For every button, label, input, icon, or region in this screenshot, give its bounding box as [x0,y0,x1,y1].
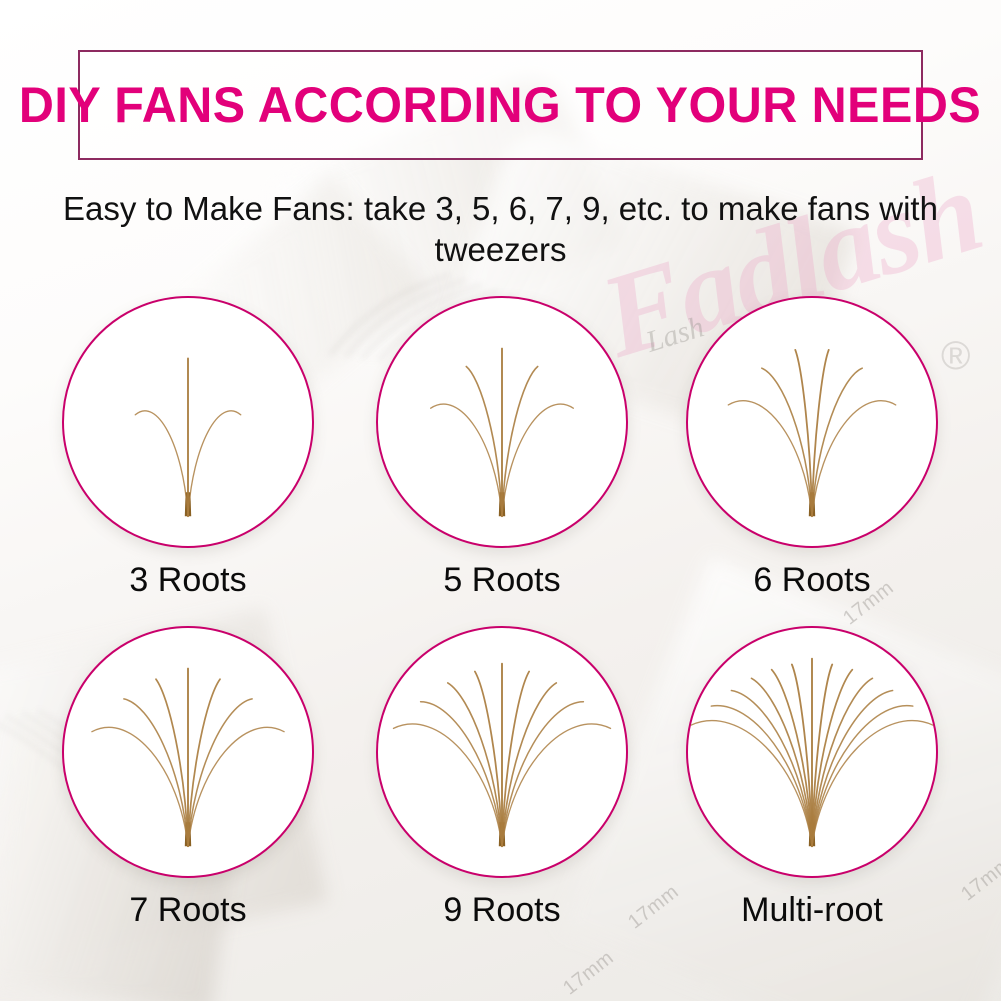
lash-strand [502,683,556,846]
lash-strand [448,683,502,846]
lash-strand [502,724,611,846]
fan-circle [686,626,938,878]
lash-strand [188,727,284,846]
fan-circle [376,296,628,548]
lash-fan-icon [378,298,626,546]
lash-strand [728,401,812,517]
lash-strand [394,724,503,846]
lash-strand [124,699,188,846]
fan-label: 9 Roots [352,892,652,929]
lash-strand [502,367,538,517]
fan-item-6-roots: 6 Roots [662,296,962,599]
fan-item-7-roots: 7 Roots [38,626,338,929]
lash-fan-icon [688,628,936,876]
fan-item-5-roots: 5 Roots [352,296,652,599]
product-infographic: 17mm 17mm 17mm 17mm Fadlash Lash ® DIY F… [0,0,1001,1001]
lash-strand [812,721,933,847]
lash-strand [135,411,188,516]
subtitle-text: Easy to Make Fans: take 3, 5, 6, 7, 9, e… [60,188,941,271]
fan-circle [62,626,314,878]
fan-row: 7 Roots 9 Roots Multi-root [0,626,1001,956]
fan-row: 3 Roots 5 Roots 6 Roots [0,296,1001,626]
fan-label: 7 Roots [38,892,338,929]
lash-fan-icon [688,298,936,546]
lash-fan-icon [64,298,312,546]
fan-circle [62,296,314,548]
fan-circle [686,296,938,548]
lash-strand [812,368,862,516]
lash-strand [431,404,502,516]
lash-strand [691,721,812,847]
lash-strand [812,401,896,517]
fan-label: 5 Roots [352,562,652,599]
lash-fan-icon [64,628,312,876]
fan-label: 3 Roots [38,562,338,599]
lash-strand [466,367,502,517]
lash-strand [92,727,188,846]
fan-label: 6 Roots [662,562,962,599]
fan-item-9-roots: 9 Roots [352,626,652,929]
fan-label: Multi-root [662,892,962,929]
lash-strand [188,411,241,516]
fan-item-multi-root: Multi-root [662,626,962,929]
page-title: DIY FANS ACCORDING TO YOUR NEEDS [19,80,981,130]
fan-circle [376,626,628,878]
lash-fan-icon [378,628,626,876]
lash-strand [502,404,573,516]
fan-grid: 3 Roots 5 Roots 6 Roots 7 Roots 9 Roots [0,296,1001,956]
fan-item-3-roots: 3 Roots [38,296,338,599]
title-banner: DIY FANS ACCORDING TO YOUR NEEDS [78,50,923,160]
lash-strand [188,699,252,846]
lash-strand [762,368,812,516]
